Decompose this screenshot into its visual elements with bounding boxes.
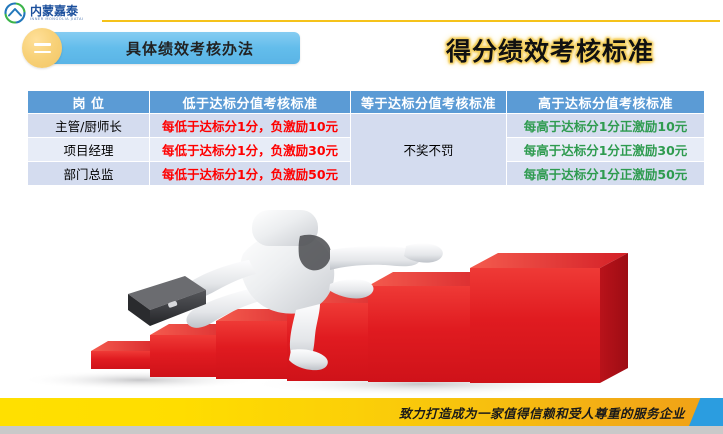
slide-canvas: 内蒙嘉泰 INNER MONGOLIA JIATAI 具体绩效考核办法 得分绩效… xyxy=(0,0,723,434)
badge-bar-bottom xyxy=(34,51,51,54)
logo-text-block: 内蒙嘉泰 INNER MONGOLIA JIATAI xyxy=(30,5,83,22)
col-header-below-standard: 低于达标分值考核标准 xyxy=(150,91,351,114)
logo-name-en: INNER MONGOLIA JIATAI xyxy=(30,18,83,22)
cell-below-standard: 每低于达标分1分，负激励10元 xyxy=(150,114,351,138)
table-row: 主管/厨师长 每低于达标分1分，负激励10元 不奖不罚 每高于达标分1分正激励1… xyxy=(28,114,705,138)
col-header-above-standard: 高于达标分值考核标准 xyxy=(507,91,705,114)
col-header-position: 岗 位 xyxy=(28,91,150,114)
badge-bar-top xyxy=(34,43,51,46)
cell-above-standard: 每高于达标分1分正激励10元 xyxy=(507,114,705,138)
footer-slogan: 致力打造成为一家值得信赖和受人尊重的服务企业 xyxy=(399,398,685,426)
footer-bottom-strip xyxy=(0,426,723,434)
businessman-leaping-over-red-growth-bars-illustration xyxy=(0,198,723,398)
col-header-equal-standard: 等于达标分值考核标准 xyxy=(351,91,507,114)
table-header-row: 岗 位 低于达标分值考核标准 等于达标分值考核标准 高于达标分值考核标准 xyxy=(28,91,705,114)
footer-banner: 致力打造成为一家值得信赖和受人尊重的服务企业 xyxy=(0,398,723,426)
cell-position: 部门总监 xyxy=(28,162,150,186)
footer-accent-shape xyxy=(689,398,723,426)
section-banner-label: 具体绩效考核办法 xyxy=(38,32,300,64)
mountain-arc-logo-icon xyxy=(4,2,26,24)
cell-equal-standard-merged: 不奖不罚 xyxy=(351,114,507,186)
logo-name-cn: 内蒙嘉泰 xyxy=(30,5,83,17)
header-divider-rule xyxy=(102,20,720,22)
page-title: 得分绩效考核标准 xyxy=(400,32,700,68)
company-logo: 内蒙嘉泰 INNER MONGOLIA JIATAI xyxy=(4,2,83,24)
illustration-svg xyxy=(0,198,723,398)
cell-below-standard: 每低于达标分1分，负激励50元 xyxy=(150,162,351,186)
table-body: 主管/厨师长 每低于达标分1分，负激励10元 不奖不罚 每高于达标分1分正激励1… xyxy=(28,114,705,186)
cell-position: 主管/厨师长 xyxy=(28,114,150,138)
cell-position: 项目经理 xyxy=(28,138,150,162)
growth-bar-6 xyxy=(470,253,628,383)
table-header: 岗 位 低于达标分值考核标准 等于达标分值考核标准 高于达标分值考核标准 xyxy=(28,91,705,114)
scoring-standards-table: 岗 位 低于达标分值考核标准 等于达标分值考核标准 高于达标分值考核标准 主管/… xyxy=(27,90,705,186)
section-banner: 具体绩效考核办法 xyxy=(38,32,300,64)
cell-above-standard: 每高于达标分1分正激励30元 xyxy=(507,138,705,162)
cell-below-standard: 每低于达标分1分，负激励30元 xyxy=(150,138,351,162)
cell-above-standard: 每高于达标分1分正激励50元 xyxy=(507,162,705,186)
equals-bars-icon xyxy=(22,28,62,68)
